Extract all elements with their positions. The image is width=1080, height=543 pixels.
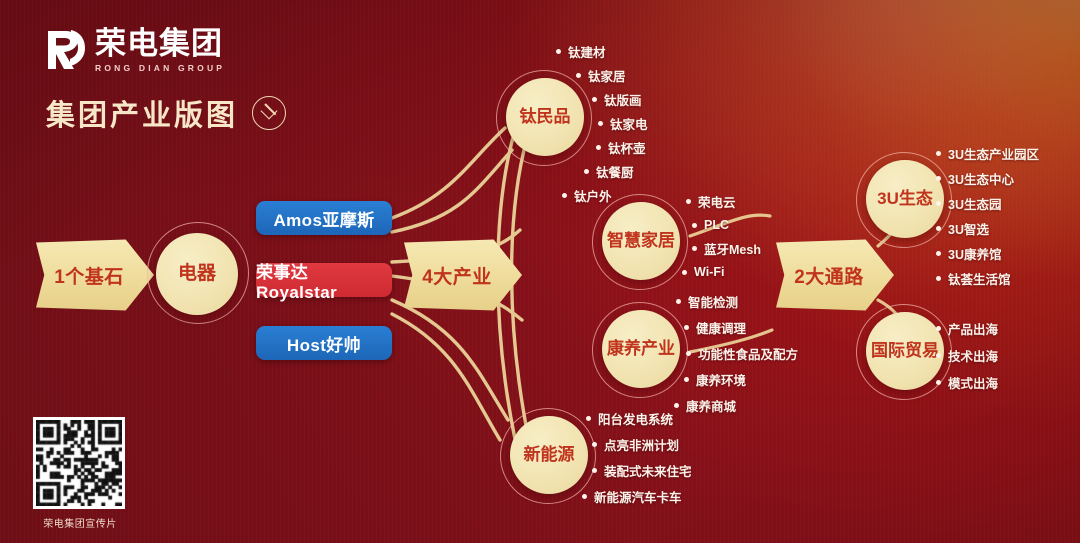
bullet-dot [682, 270, 687, 275]
list-item: 蓝牙Mesh [692, 239, 761, 258]
list-item: 钛家居 [576, 66, 648, 85]
list-item: 荣电云 [686, 192, 761, 211]
list-item: 健康调理 [684, 318, 798, 337]
bullet-dot [598, 121, 603, 126]
list-smart-home: 荣电云 PLC 蓝牙Mesh Wi-Fi [678, 192, 761, 279]
banner-industries: 4大产业 [404, 238, 522, 312]
bullet-dot [684, 377, 689, 382]
banner-channels: 2大通路 [776, 238, 894, 312]
list-item: 钛版画 [592, 90, 648, 109]
banner-foundation: 1个基石 [36, 238, 154, 312]
list-item-label: 产品出海 [948, 319, 998, 338]
list-item-label: 钛杯壶 [608, 138, 646, 157]
list-item-label: 智能检测 [688, 292, 738, 311]
node-appliances[interactable]: 电器 [145, 222, 249, 326]
list-item-label: PLC [704, 218, 729, 232]
brand-badge-label: Amos亚摩斯 [273, 206, 374, 231]
node-label: 新能源 [524, 445, 575, 464]
bullet-dot [674, 403, 679, 408]
bullet-dot [936, 251, 941, 256]
list-item-label: Wi-Fi [694, 265, 724, 279]
bullet-dot [936, 226, 941, 231]
banner-label: 2大通路 [794, 262, 864, 289]
bullet-dot [686, 351, 691, 356]
bullet-dot [936, 176, 941, 181]
list-item: 3U生态产业园区 [936, 144, 1039, 163]
bullet-dot [584, 169, 589, 174]
list-item-label: 康养商城 [686, 396, 736, 415]
list-item-label: 康养环境 [696, 370, 746, 389]
bullet-dot [592, 97, 597, 102]
bullet-dot [936, 151, 941, 156]
bullet-dot [692, 223, 697, 228]
list-item-label: 钛家居 [588, 66, 626, 85]
list-item-label: 3U生态中心 [948, 169, 1014, 188]
infographic-canvas: 荣电集团 RONG DIAN GROUP 集团产业版图 1个基石 电器 Amos… [0, 0, 1080, 543]
qr-code-icon[interactable] [33, 417, 125, 509]
list-item-label: 功能性食品及配方 [698, 344, 798, 363]
list-item: 技术出海 [936, 346, 998, 365]
list-item-label: 装配式未来住宅 [604, 461, 692, 480]
list-item-label: 3U生态产业园区 [948, 144, 1039, 163]
bullet-dot [576, 73, 581, 78]
list-item-label: 钛家电 [610, 114, 648, 133]
list-item: Wi-Fi [682, 265, 761, 279]
list-titanium-consumer: 钛建材 钛家居 钛版画 钛家电 钛杯壶 钛餐厨 钛户外 [556, 42, 648, 205]
list-item-label: 健康调理 [696, 318, 746, 337]
list-item-label: 模式出海 [948, 373, 998, 392]
list-item-label: 钛餐厨 [596, 162, 634, 181]
list-item-label: 钛版画 [604, 90, 642, 109]
bullet-dot [582, 494, 587, 499]
brand-badge-label: 荣事达 Royalstar [256, 258, 392, 303]
list-item: 康养商城 [674, 396, 798, 415]
list-item: 钛荟生活馆 [936, 269, 1039, 288]
list-item: 钛建材 [556, 42, 648, 61]
bullet-dot [936, 326, 941, 331]
logo-name-en: RONG DIAN GROUP [95, 64, 225, 73]
list-item: 3U生态中心 [936, 169, 1039, 188]
company-logo: 荣电集团 RONG DIAN GROUP [44, 28, 225, 73]
bullet-dot [936, 353, 941, 358]
logo-name-cn: 荣电集团 [95, 28, 225, 59]
banner-label: 4大产业 [422, 262, 492, 289]
list-item: 3U康养馆 [936, 244, 1039, 263]
list-item: 功能性食品及配方 [686, 344, 798, 363]
list-item-label: 钛建材 [568, 42, 606, 61]
bullet-dot [596, 145, 601, 150]
list-item-label: 技术出海 [948, 346, 998, 365]
node-label: 智慧家居 [607, 231, 675, 250]
bullet-dot [936, 201, 941, 206]
bullet-dot [936, 380, 941, 385]
bullet-dot [936, 276, 941, 281]
list-item-label: 荣电云 [698, 192, 736, 211]
bullet-dot [562, 193, 567, 198]
node-label: 康养产业 [607, 339, 675, 358]
bullet-dot [592, 468, 597, 473]
list-item-label: 阳台发电系统 [598, 409, 673, 428]
bullet-dot [692, 246, 697, 251]
page-title: 集团产业版图 [46, 92, 286, 134]
list-item: 3U生态园 [936, 194, 1039, 213]
list-new-energy: 阳台发电系统 点亮非洲计划 装配式未来住宅 新能源汽车卡车 [580, 409, 692, 506]
bullet-dot [676, 299, 681, 304]
node-label: 电器 [178, 263, 216, 284]
bullet-dot [684, 325, 689, 330]
node-label: 国际贸易 [871, 341, 939, 360]
node-label: 3U生态 [877, 189, 933, 208]
bullet-dot [586, 416, 591, 421]
list-international-trade: 产品出海 技术出海 模式出海 [936, 319, 998, 392]
list-item-label: 3U生态园 [948, 194, 1001, 213]
node-smart-home[interactable]: 智慧家居 [592, 192, 690, 290]
bullet-dot [556, 49, 561, 54]
rd-monogram-icon [44, 28, 86, 72]
qr-caption: 荣电集团宣传片 [24, 515, 136, 530]
list-item: 钛杯壶 [596, 138, 648, 157]
list-item: 新能源汽车卡车 [582, 487, 692, 506]
list-item-label: 新能源汽车卡车 [594, 487, 682, 506]
list-item-label: 3U康养馆 [948, 244, 1001, 263]
bullet-dot [686, 199, 691, 204]
brand-badge-label: Host好帅 [287, 331, 361, 356]
list-item: 钛餐厨 [584, 162, 648, 181]
list-item: 钛家电 [598, 114, 648, 133]
list-item: 康养环境 [684, 370, 798, 389]
brand-badge-royalstar[interactable]: 荣事达 Royalstar [256, 263, 392, 297]
list-item: 装配式未来住宅 [592, 461, 692, 480]
brand-badge-host[interactable]: Host好帅 [256, 326, 392, 360]
list-item: 阳台发电系统 [586, 409, 692, 428]
list-item-label: 钛荟生活馆 [948, 269, 1011, 288]
list-item-label: 3U智选 [948, 219, 989, 238]
list-item: 点亮非洲计划 [592, 435, 692, 454]
list-item: 模式出海 [936, 373, 998, 392]
list-item: 3U智选 [936, 219, 1039, 238]
list-item: 产品出海 [936, 319, 998, 338]
brand-badge-amos[interactable]: Amos亚摩斯 [256, 201, 392, 235]
bullet-dot [592, 442, 597, 447]
list-item: PLC [692, 218, 761, 232]
page-title-text: 集团产业版图 [46, 92, 238, 134]
list-3u-ecosystem: 3U生态产业园区 3U生态中心 3U生态园 3U智选 3U康养馆 钛荟生活馆 [936, 144, 1039, 288]
arrow-down-right-circle-icon [252, 96, 286, 130]
banner-label: 1个基石 [54, 262, 124, 289]
list-item-label: 点亮非洲计划 [604, 435, 679, 454]
list-item-label: 蓝牙Mesh [704, 239, 761, 258]
